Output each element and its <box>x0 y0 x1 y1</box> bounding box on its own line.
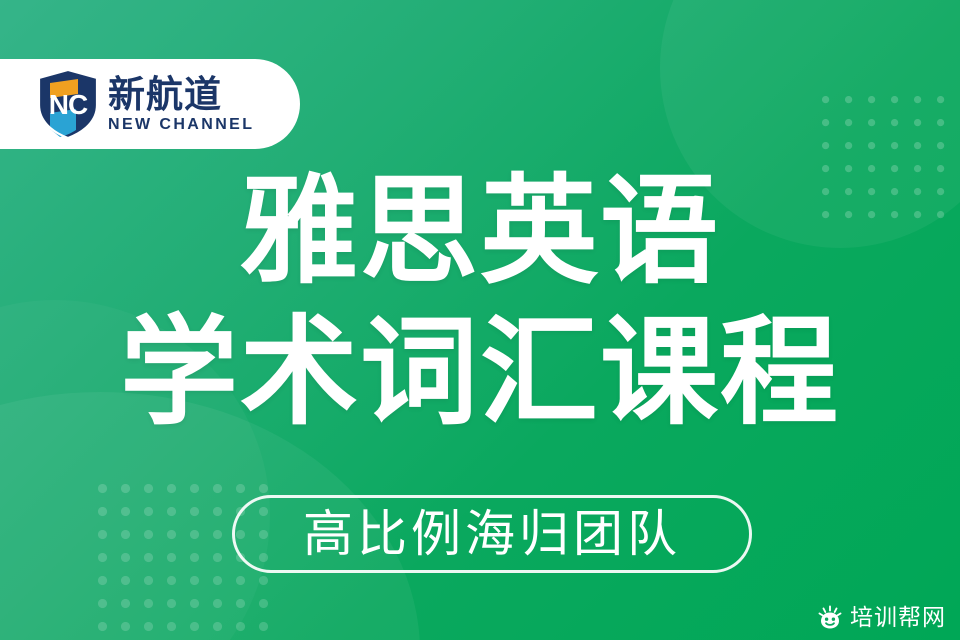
site-watermark: 培训帮网 <box>811 602 952 634</box>
brand-name-cn: 新航道 <box>108 76 254 113</box>
subtitle-pill: 高比例海归团队 <box>232 495 752 573</box>
svg-text:NC: NC <box>49 89 88 120</box>
brand-logo-text: 新航道 NEW CHANNEL <box>108 76 254 133</box>
headline-block: 雅思英语 学术词汇课程 <box>0 164 960 439</box>
nc-shield-icon: NC <box>36 69 100 139</box>
subtitle-text: 高比例海归团队 <box>303 509 681 559</box>
headline-line-1: 雅思英语 <box>0 164 960 299</box>
brand-logo-plate: NC 新航道 NEW CHANNEL <box>0 59 300 149</box>
brand-name-en: NEW CHANNEL <box>108 117 254 133</box>
watermark-label: 培训帮网 <box>850 607 946 630</box>
headline-line-2: 学术词汇课程 <box>0 305 960 440</box>
sun-face-icon <box>817 605 843 631</box>
course-promo-banner: NC 新航道 NEW CHANNEL 雅思英语 学术词汇课程 高比例海归团队 <box>0 0 960 640</box>
